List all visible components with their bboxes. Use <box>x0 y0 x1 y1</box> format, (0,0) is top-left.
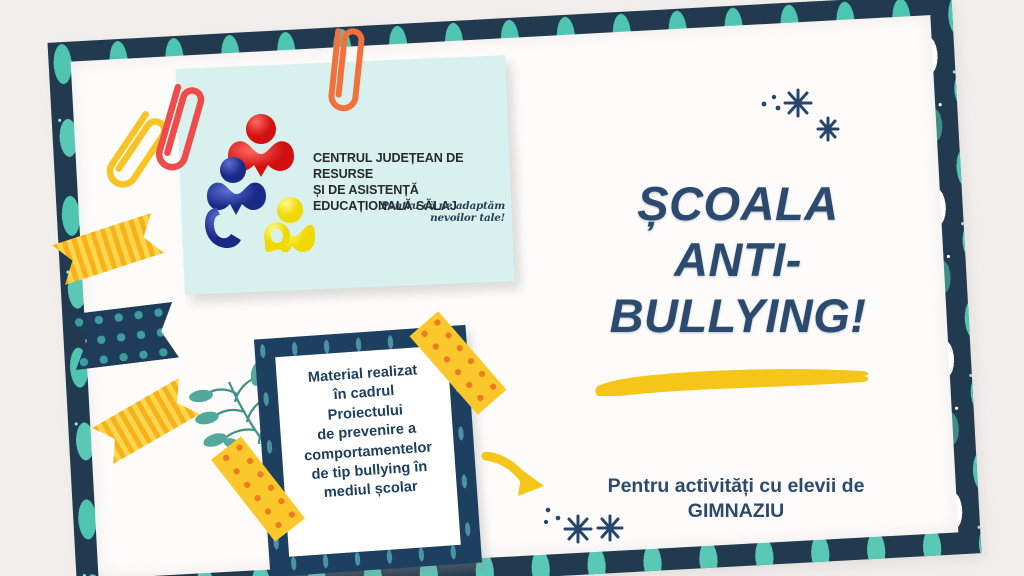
note-card-inner: Material realizat în cadrul Proiectului … <box>275 345 461 557</box>
orange-paper-clip-icon <box>312 24 374 120</box>
yellow-brush-stroke-icon <box>592 362 874 396</box>
organization-logo: CENTRUL JUDEȚEAN DE RESURSE ȘI DE ASISTE… <box>205 112 505 252</box>
navy-sparkle-stars-bottom-left <box>534 498 646 566</box>
organization-tagline: Pentru că ne adaptăm nevoilor tale! <box>335 200 505 224</box>
poster-canvas: CENTRUL JUDEȚEAN DE RESURSE ȘI DE ASISTE… <box>0 0 1024 576</box>
red-paper-clip-icon <box>138 80 212 180</box>
navy-sparkle-stars-top-right <box>748 84 852 156</box>
page-title: ȘCOALA ANTI- BULLYING! <box>548 176 928 344</box>
cjrae-salaj-logo-icon <box>205 112 315 252</box>
project-note-text: Material realizat în cadrul Proiectului … <box>276 359 457 507</box>
